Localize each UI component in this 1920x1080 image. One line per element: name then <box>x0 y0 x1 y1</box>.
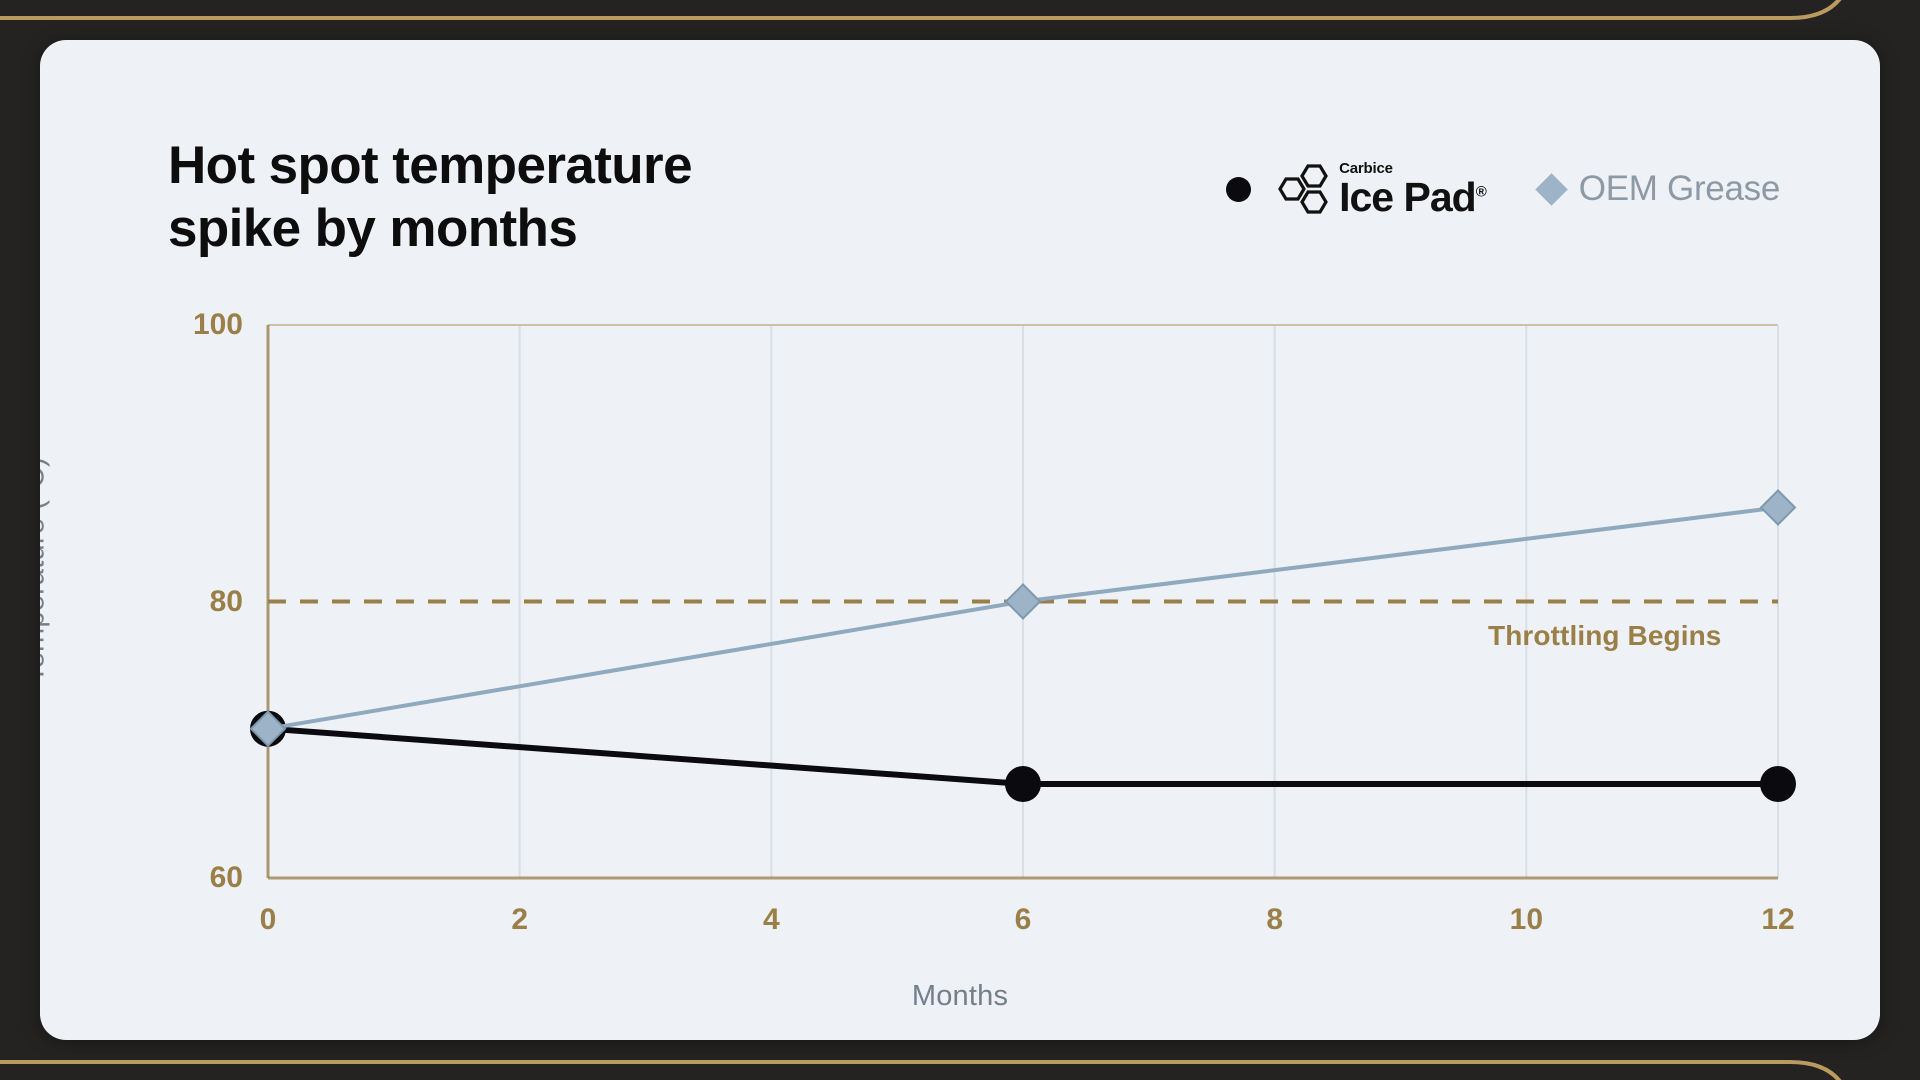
line-chart: Temperature (°C) Months Throttling Begin… <box>40 40 1880 1040</box>
plot-canvas <box>40 40 1880 1040</box>
x-axis-title: Months <box>40 980 1880 1013</box>
data-point-carbice-ice-pad[interactable] <box>1005 766 1041 802</box>
x-tick-label: 6 <box>978 903 1068 937</box>
throttling-annotation-label: Throttling Begins <box>1488 620 1721 652</box>
y-tick-label: 60 <box>133 861 243 895</box>
x-tick-label: 4 <box>726 903 816 937</box>
gold-curve-top <box>0 0 1852 18</box>
y-axis-title: Temperature (°C) <box>40 420 52 720</box>
x-tick-label: 10 <box>1481 903 1571 937</box>
chart-card: Hot spot temperature spike by months Car… <box>40 40 1880 1040</box>
x-tick-label: 2 <box>475 903 565 937</box>
x-tick-label: 8 <box>1230 903 1320 937</box>
y-tick-label: 80 <box>133 585 243 619</box>
x-tick-label: 0 <box>223 903 313 937</box>
data-point-carbice-ice-pad[interactable] <box>1760 766 1796 802</box>
y-tick-label: 100 <box>133 308 243 342</box>
data-point-oem-grease[interactable] <box>1761 490 1795 524</box>
gold-curve-bottom <box>0 1062 1852 1080</box>
data-point-oem-grease[interactable] <box>1006 585 1040 619</box>
x-tick-label: 12 <box>1733 903 1823 937</box>
screenshot-stage: Hot spot temperature spike by months Car… <box>0 0 1920 1080</box>
